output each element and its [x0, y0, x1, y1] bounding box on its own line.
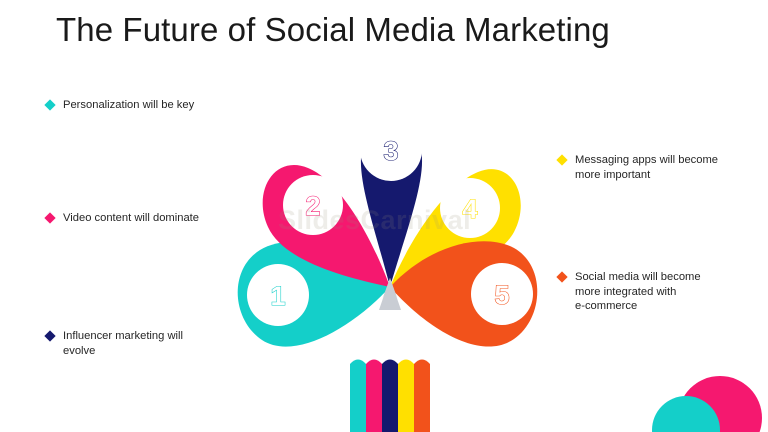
callout-video-content: Video content will dominate: [46, 211, 199, 226]
callout-label: Influencer marketing will evolve: [63, 329, 183, 358]
pencil-body: [350, 360, 430, 432]
pencil-flower-diagram: 1 2 3 4 5: [230, 92, 550, 432]
diamond-icon: [556, 154, 567, 165]
callout-messaging-apps: Messaging apps will become more importan…: [558, 153, 718, 182]
callout-label: Messaging apps will become more importan…: [575, 153, 718, 182]
callout-social-commerce: Social media will become more integrated…: [558, 270, 701, 314]
diamond-icon: [44, 212, 55, 223]
petal-number: 2: [305, 191, 320, 221]
petal-number: 5: [494, 280, 509, 310]
callout-label: Social media will become more integrated…: [575, 270, 701, 314]
callout-label: Video content will dominate: [63, 211, 199, 226]
page-title: The Future of Social Media Marketing: [56, 8, 610, 52]
diamond-icon: [556, 271, 567, 282]
petal-number: 1: [270, 281, 285, 311]
callout-label: Personalization will be key: [63, 98, 194, 113]
callout-influencer-marketing: Influencer marketing will evolve: [46, 329, 183, 358]
petal-number: 3: [383, 136, 398, 166]
diamond-icon: [44, 330, 55, 341]
callout-personalization: Personalization will be key: [46, 98, 194, 113]
diamond-icon: [44, 99, 55, 110]
corner-circles: [648, 356, 768, 432]
petal-number: 4: [462, 194, 477, 224]
